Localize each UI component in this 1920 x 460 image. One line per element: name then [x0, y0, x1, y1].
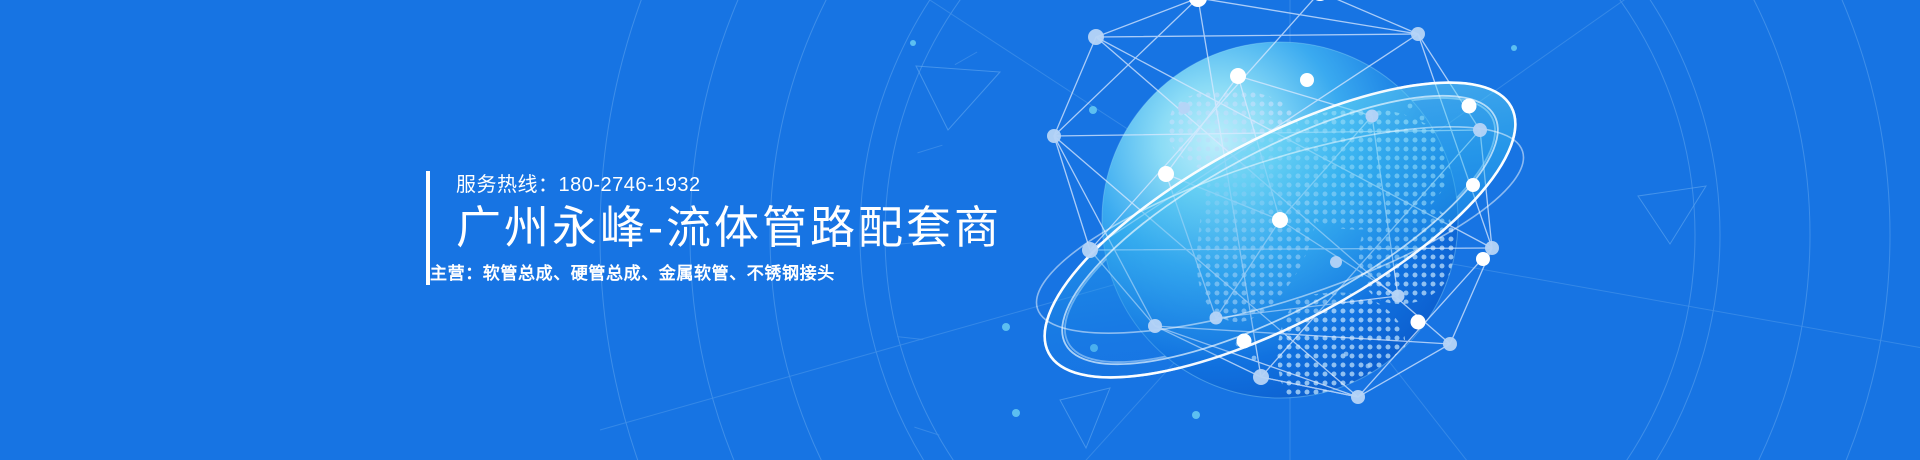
page-title: 广州永峰-流体管路配套商: [456, 200, 1002, 256]
banner-text-block: 服务热线：180-2746-1932 广州永峰-流体管路配套商 主营：软管总成、…: [426, 171, 1002, 285]
hero-banner: 服务热线：180-2746-1932 广州永峰-流体管路配套商 主营：软管总成、…: [0, 0, 1920, 460]
product-summary: 主营：软管总成、硬管总成、金属软管、不锈钢接头: [430, 262, 1002, 286]
banner-text-lines: 服务热线：180-2746-1932 广州永峰-流体管路配套商 主营：软管总成、…: [456, 171, 1002, 285]
service-hotline: 服务热线：180-2746-1932: [456, 172, 1002, 198]
globe-network-illustration: [980, 0, 1600, 460]
